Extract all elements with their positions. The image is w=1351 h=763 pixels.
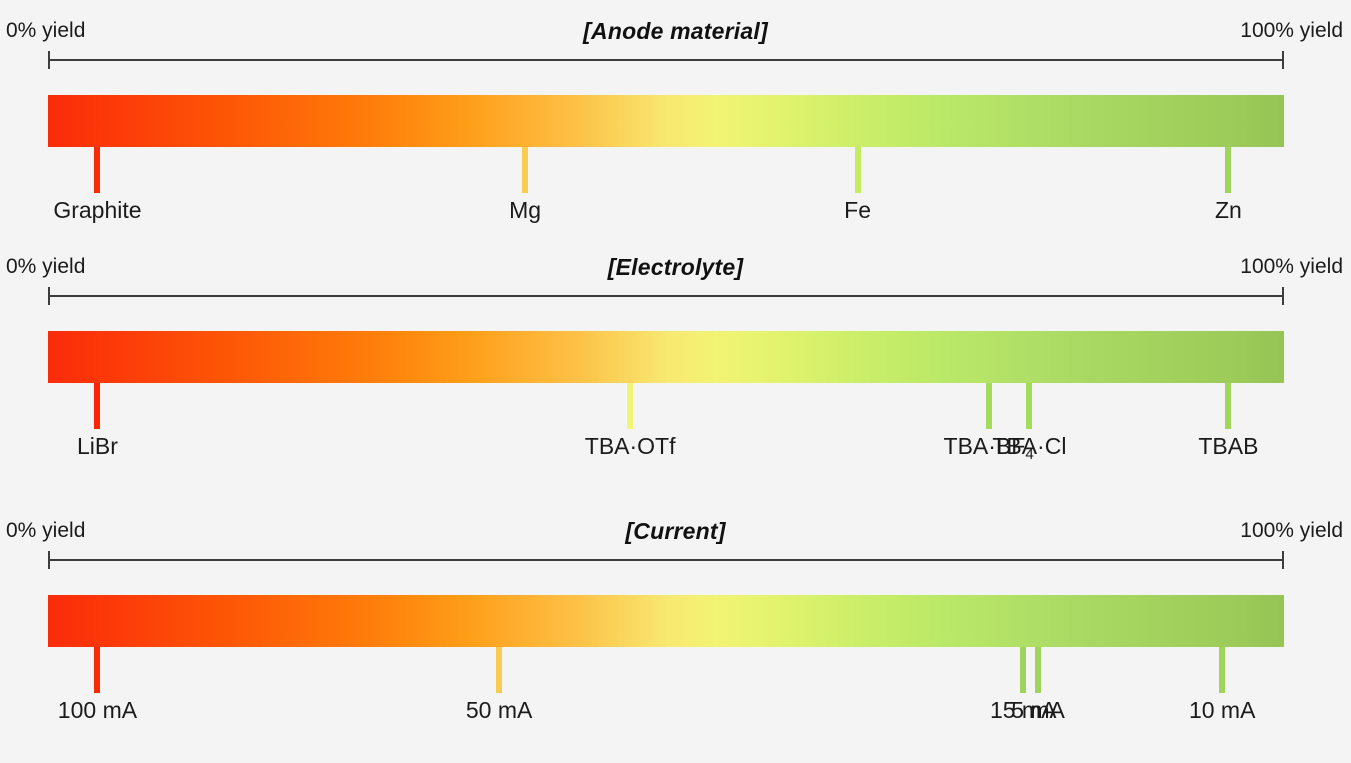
marker-label: 50 mA bbox=[466, 693, 532, 727]
marker-tick bbox=[496, 647, 502, 693]
panel-title: [Electrolyte] bbox=[0, 250, 1351, 284]
marker-tick bbox=[94, 647, 100, 693]
panel-1: 0% yield[Anode material]100% yieldGraphi… bbox=[0, 14, 1351, 48]
marker-tick bbox=[1035, 647, 1041, 693]
marker-tick bbox=[522, 147, 528, 193]
marker-label: Zn bbox=[1215, 193, 1242, 227]
axis-cap-left bbox=[48, 51, 50, 69]
scale-axis-ruler bbox=[48, 550, 1284, 570]
panel-header: 0% yield[Electrolyte]100% yield bbox=[0, 250, 1351, 284]
marker-tick bbox=[986, 383, 992, 429]
marker-tick bbox=[1225, 147, 1231, 193]
scale-max-label: 100% yield bbox=[1240, 514, 1343, 548]
panel-title: [Current] bbox=[0, 514, 1351, 548]
axis-line bbox=[48, 559, 1284, 561]
marker-tick bbox=[627, 383, 633, 429]
marker-label: TBA·Cl bbox=[992, 429, 1066, 463]
marker-label: TBA·OTf bbox=[585, 429, 676, 463]
panel-2: 0% yield[Electrolyte]100% yieldLiBrTBA·O… bbox=[0, 250, 1351, 284]
yield-colour-scale-bar bbox=[48, 595, 1284, 647]
yield-colour-scale-bar bbox=[48, 95, 1284, 147]
axis-line bbox=[48, 295, 1284, 297]
panel-header: 0% yield[Anode material]100% yield bbox=[0, 14, 1351, 48]
marker-tick bbox=[1219, 647, 1225, 693]
marker-label: 5 mA bbox=[1011, 693, 1065, 727]
panel-title: [Anode material] bbox=[0, 14, 1351, 48]
axis-cap-right bbox=[1282, 287, 1284, 305]
axis-cap-right bbox=[1282, 551, 1284, 569]
marker-tick bbox=[1225, 383, 1231, 429]
marker-tick bbox=[94, 147, 100, 193]
scale-max-label: 100% yield bbox=[1240, 14, 1343, 48]
marker-label: Fe bbox=[844, 193, 871, 227]
axis-cap-left bbox=[48, 287, 50, 305]
scale-max-label: 100% yield bbox=[1240, 250, 1343, 284]
marker-label: Graphite bbox=[53, 193, 141, 227]
scale-axis-ruler bbox=[48, 286, 1284, 306]
marker-label: LiBr bbox=[77, 429, 118, 463]
marker-tick bbox=[855, 147, 861, 193]
marker-label: TBAB bbox=[1198, 429, 1258, 463]
axis-cap-right bbox=[1282, 51, 1284, 69]
scale-axis-ruler bbox=[48, 50, 1284, 70]
panel-3: 0% yield[Current]100% yield100 mA50 mA15… bbox=[0, 514, 1351, 548]
marker-tick bbox=[1020, 647, 1026, 693]
marker-tick bbox=[1026, 383, 1032, 429]
axis-cap-left bbox=[48, 551, 50, 569]
yield-ranking-figure: 0% yield[Anode material]100% yieldGraphi… bbox=[0, 0, 1351, 763]
marker-label: 100 mA bbox=[58, 693, 137, 727]
marker-label: Mg bbox=[509, 193, 541, 227]
marker-tick bbox=[94, 383, 100, 429]
yield-colour-scale-bar bbox=[48, 331, 1284, 383]
axis-line bbox=[48, 59, 1284, 61]
panel-header: 0% yield[Current]100% yield bbox=[0, 514, 1351, 548]
marker-label: 10 mA bbox=[1189, 693, 1255, 727]
